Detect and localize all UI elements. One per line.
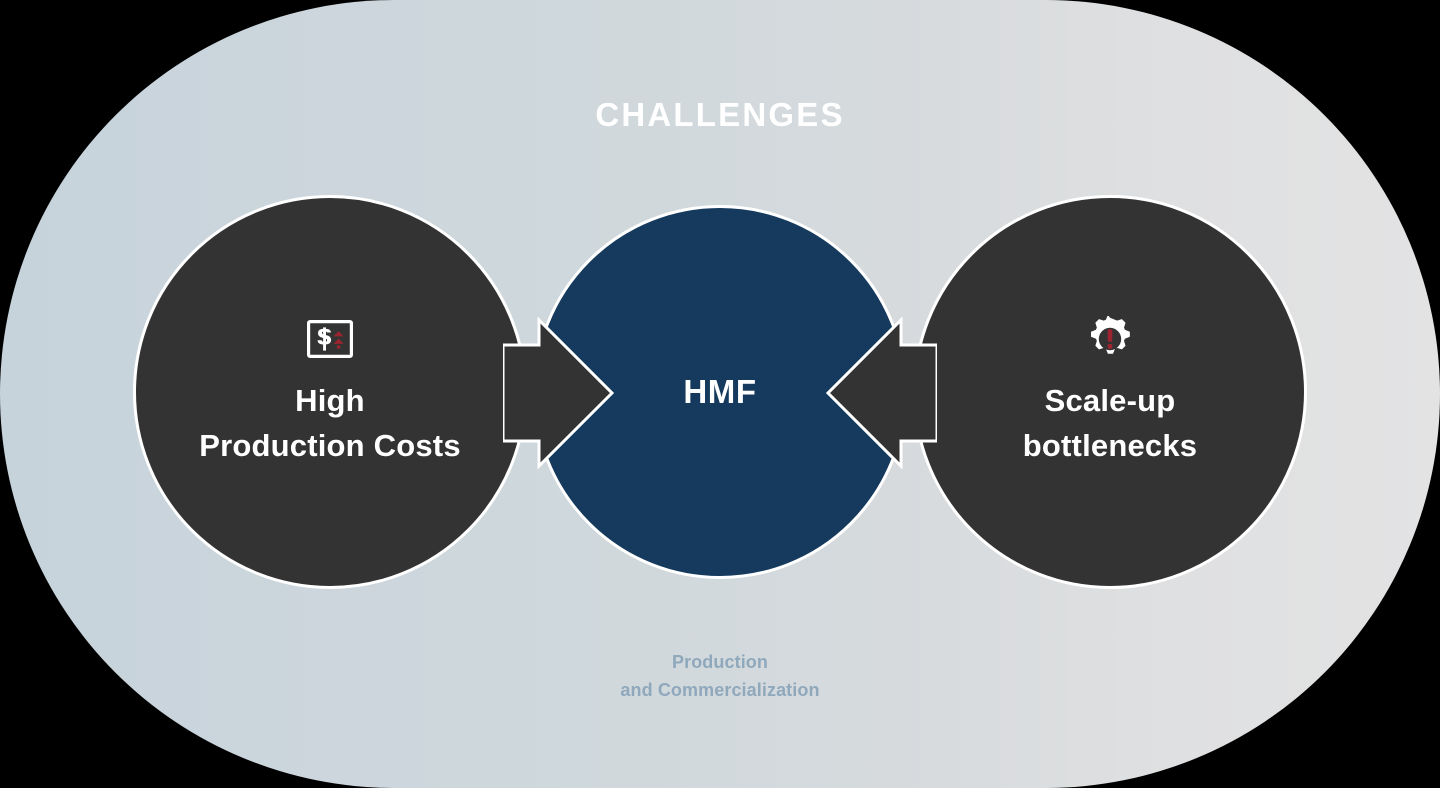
node-label-line-1: Scale-up <box>1023 378 1197 423</box>
footer-caption-line-1: Production <box>0 648 1440 676</box>
gear-warning-icon <box>1087 316 1133 362</box>
node-label-line-1: High <box>199 378 461 423</box>
node-label-line-2: Production Costs <box>199 423 461 468</box>
money-bill-up-arrow-icon <box>307 316 353 362</box>
arrow-left-icon <box>825 312 937 474</box>
node-label: High Production Costs <box>199 378 461 468</box>
footer-caption: Production and Commercialization <box>0 648 1440 704</box>
node-label: Scale-up bottlenecks <box>1023 378 1197 468</box>
node-label-line-2: bottlenecks <box>1023 423 1197 468</box>
page-title: CHALLENGES <box>0 92 1440 138</box>
diagram-canvas: CHALLENGES High Productio <box>0 0 1440 788</box>
arrow-right-icon <box>503 312 615 474</box>
footer-caption-line-2: and Commercialization <box>0 676 1440 704</box>
center-label: HMF <box>683 373 756 411</box>
node-high-production-costs[interactable]: High Production Costs <box>133 195 527 589</box>
node-scale-up-bottlenecks[interactable]: Scale-up bottlenecks <box>913 195 1307 589</box>
